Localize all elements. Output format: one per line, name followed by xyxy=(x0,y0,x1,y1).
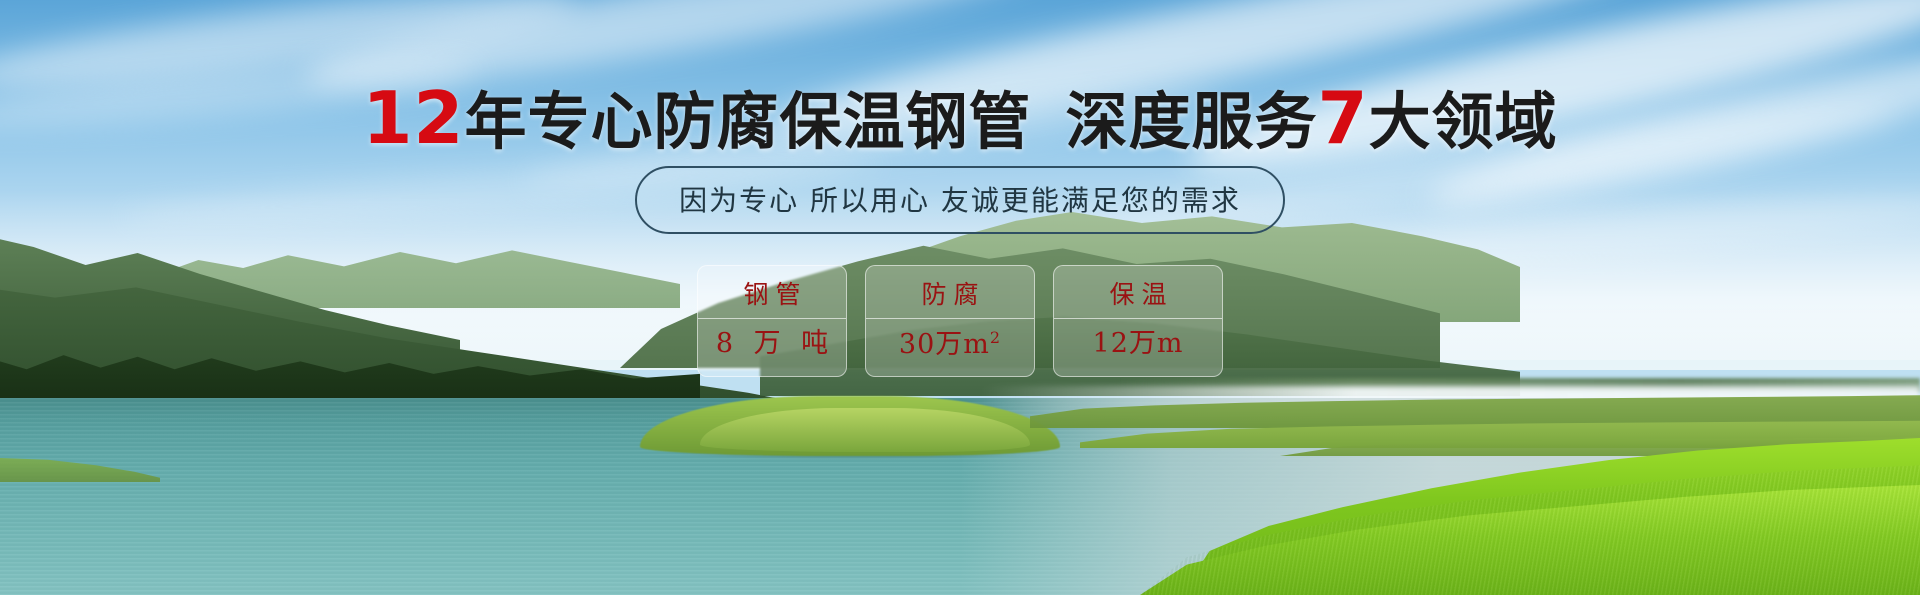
subtitle-pill: 因为专心 所以用心 友诚更能满足您的需求 xyxy=(635,166,1285,234)
banner-content: 12年专心防腐保温钢管深度服务7大领域 因为专心 所以用心 友诚更能满足您的需求… xyxy=(0,0,1920,595)
headline-part-three: 大领域 xyxy=(1369,85,1558,158)
stat-card-anticorrosion: 防腐 30万m2 xyxy=(865,265,1035,377)
stat-value: 12万m xyxy=(1054,330,1222,357)
stat-value: 8 万 吨 xyxy=(698,330,846,357)
headline: 12年专心防腐保温钢管深度服务7大领域 xyxy=(0,82,1920,154)
stat-label: 钢管 xyxy=(736,282,807,307)
stat-label: 防腐 xyxy=(914,282,985,307)
stat-value: 30万m2 xyxy=(866,330,1034,358)
stat-value-superscript: 2 xyxy=(990,328,1001,347)
headline-years-number: 12 xyxy=(362,76,464,160)
stat-divider xyxy=(698,318,846,319)
stat-label: 保温 xyxy=(1102,282,1173,307)
headline-part-one: 年专心防腐保温钢管 xyxy=(465,85,1032,158)
headline-part-two: 深度服务 xyxy=(1066,85,1318,158)
stat-divider xyxy=(1054,318,1222,319)
subtitle-container: 因为专心 所以用心 友诚更能满足您的需求 xyxy=(0,166,1920,234)
stat-card-steel-pipe: 钢管 8 万 吨 xyxy=(697,265,847,377)
stat-divider xyxy=(866,318,1034,319)
stat-card-insulation: 保温 12万m xyxy=(1053,265,1223,377)
hero-banner: 12年专心防腐保温钢管深度服务7大领域 因为专心 所以用心 友诚更能满足您的需求… xyxy=(0,0,1920,595)
headline-fields-number: 7 xyxy=(1318,76,1369,160)
stat-value-text: 30万m xyxy=(899,329,990,360)
stats-row: 钢管 8 万 吨 防腐 30万m2 保温 12万m xyxy=(0,265,1920,377)
